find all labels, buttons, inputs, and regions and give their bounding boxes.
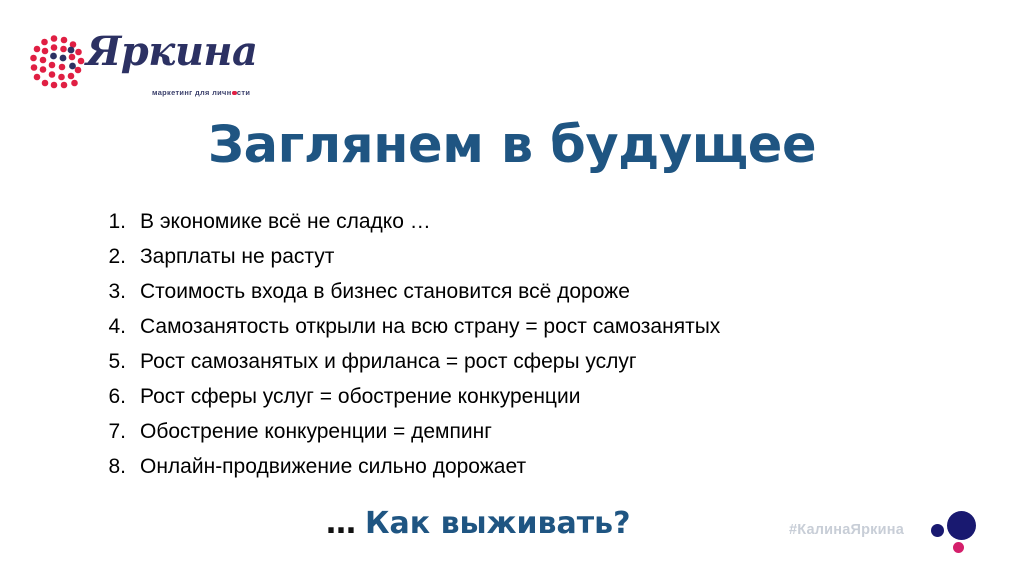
list-item-number: 2. [96,239,126,274]
list-item-number: 1. [96,204,126,239]
list-item-number: 3. [96,274,126,309]
list-item-label: Самозанятость открыли на всю страну = ро… [140,309,720,344]
logo-tagline: маркетинг для личн сти [152,88,250,97]
list-item-label: Онлайн-продвижение сильно дорожает [140,449,526,484]
corner-dot-pink-icon [953,542,964,553]
page-title: Заглянем в будущее [0,118,1024,174]
points-list: 1. В экономике всё не сладко … 2. Зарпла… [96,204,996,484]
list-item: 7. Обострение конкуренции = демпинг [96,414,996,449]
list-item-label: Стоимость входа в бизнес становится всё … [140,274,630,309]
list-item-number: 6. [96,379,126,414]
list-item-label: Обострение конкуренции = демпинг [140,414,492,449]
list-item-label: Рост сферы услуг = обострение конкуренци… [140,379,580,414]
logo-tagline-before: маркетинг для личн [152,88,232,97]
logo-tagline-after: сти [237,88,250,97]
logo-wordmark: Яркина [86,32,257,72]
logo-tagline-dot-icon [232,91,237,96]
list-item: 6. Рост сферы услуг = обострение конкуре… [96,379,996,414]
closing-ellipsis: … [326,506,357,541]
list-item: 2. Зарплаты не растут [96,239,996,274]
list-item-label: В экономике всё не сладко … [140,204,431,239]
list-item-number: 5. [96,344,126,379]
list-item: 5. Рост самозанятых и фриланса = рост сф… [96,344,996,379]
footer-hashtag: #КалинаЯркина [789,522,904,538]
list-item: 8. Онлайн-продвижение сильно дорожает [96,449,996,484]
brand-logo[interactable]: Яркина маркетинг для личн сти [30,32,255,110]
slide-canvas: Яркина маркетинг для личн сти Заглянем в… [0,0,1024,574]
closing-question-text: Как выживать? [365,506,631,541]
list-item: 3. Стоимость входа в бизнес становится в… [96,274,996,309]
list-item: 4. Самозанятость открыли на всю страну =… [96,309,996,344]
list-item-number: 4. [96,309,126,344]
list-item-number: 8. [96,449,126,484]
list-item-label: Зарплаты не растут [140,239,334,274]
list-item: 1. В экономике всё не сладко … [96,204,996,239]
list-item-number: 7. [96,414,126,449]
logo-dot-cluster-icon [30,35,88,93]
closing-question: …Как выживать? [326,505,631,543]
list-item-label: Рост самозанятых и фриланса = рост сферы… [140,344,637,379]
corner-dot-small-icon [931,524,944,537]
corner-dot-cluster-icon [927,505,987,561]
corner-dot-large-icon [947,511,976,540]
